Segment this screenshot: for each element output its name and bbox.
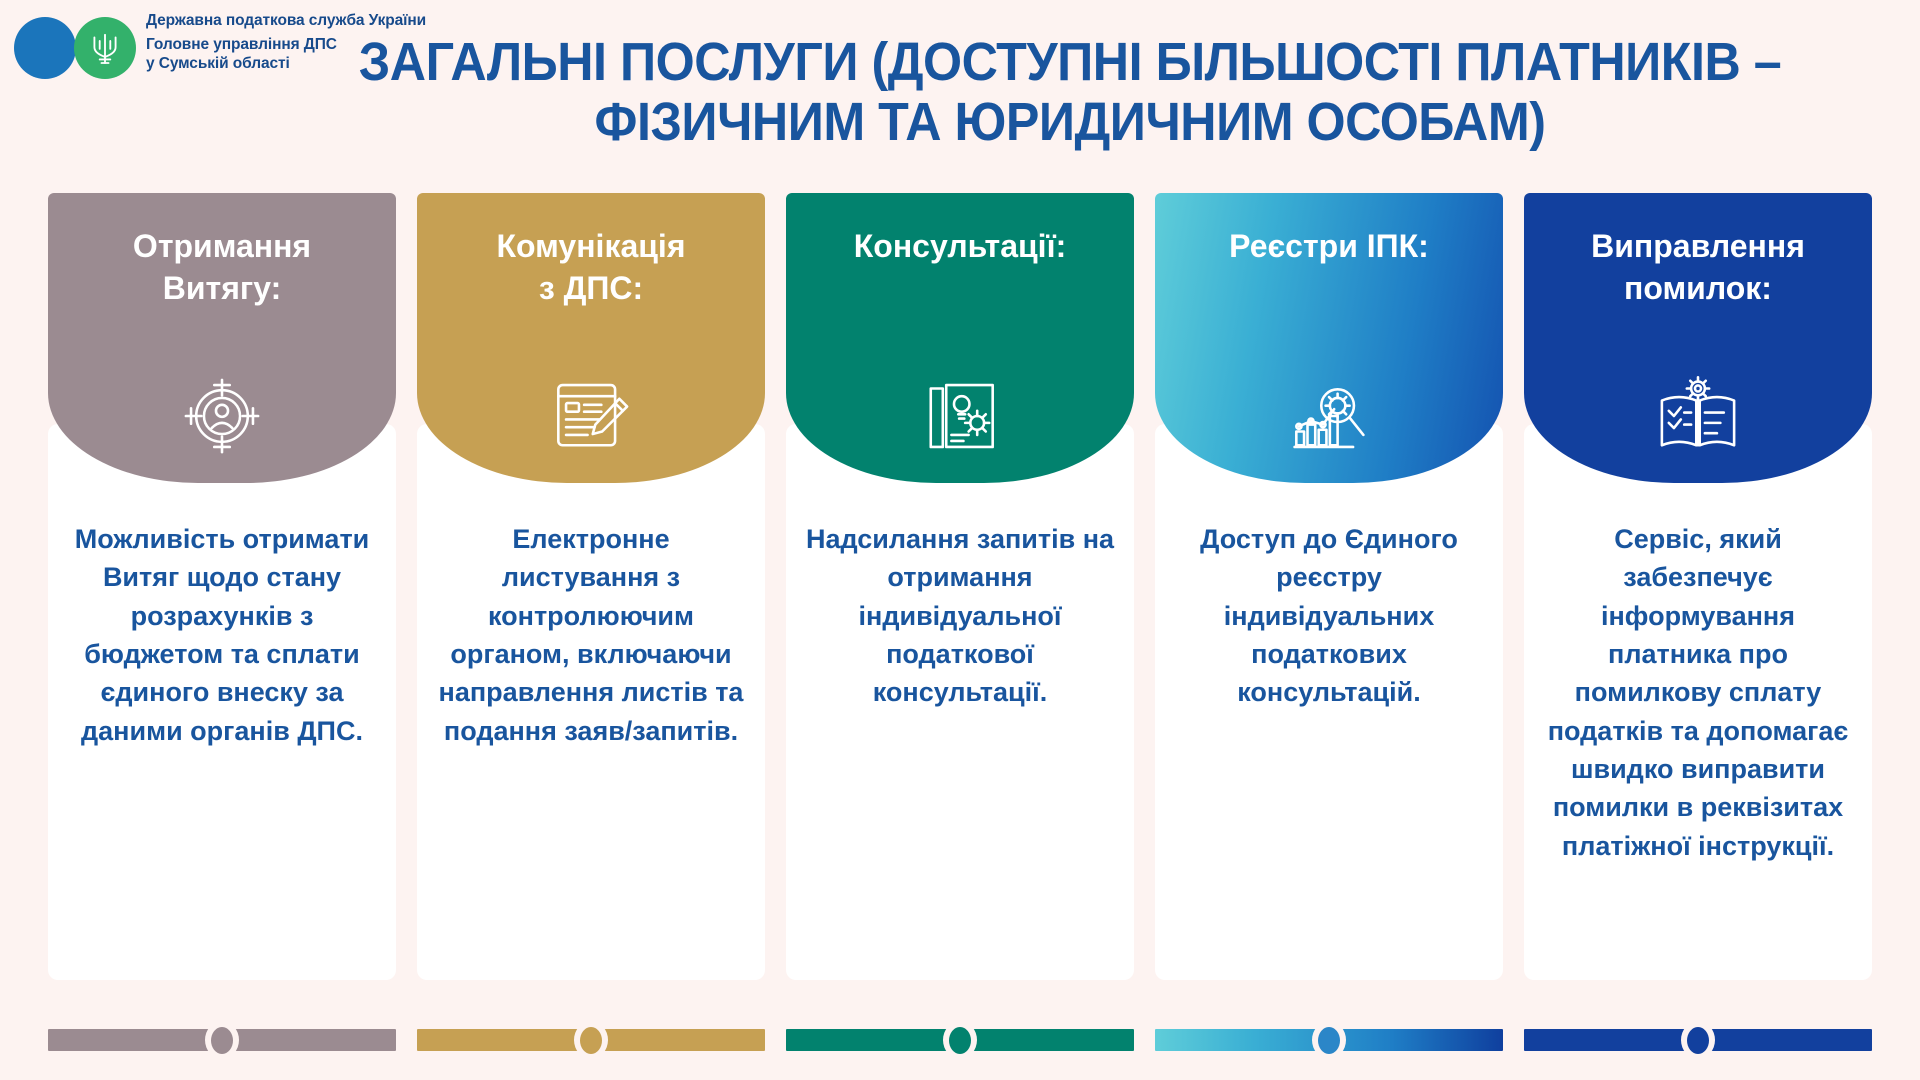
progress-bar-row	[48, 1025, 1872, 1055]
service-card-konsultatsiyi[interactable]: Надсилання запитів на отримання індивіду…	[786, 193, 1134, 1008]
progress-knob-3[interactable]	[943, 1021, 977, 1059]
logo-text-block: Державна податкова служба України Головн…	[140, 12, 426, 74]
organization-logo: Державна податкова служба України Головн…	[10, 10, 426, 76]
card-body-4: Доступ до Єдиного реєстру індивідуальних…	[1155, 424, 1503, 980]
card-body-1: Можливість отримати Витяг щодо стану роз…	[48, 424, 396, 980]
services-card-row: Можливість отримати Витяг щодо стану роз…	[48, 193, 1872, 1008]
card-title-5: Виправлення помилок:	[1577, 193, 1819, 309]
progress-knob-4[interactable]	[1312, 1021, 1346, 1059]
card-head-4: Реєстри ІПК:	[1155, 193, 1503, 483]
progress-knob-5[interactable]	[1681, 1021, 1715, 1059]
card-title-2: Комунікація з ДПС:	[483, 193, 700, 309]
card-title-4: Реєстри ІПК:	[1215, 193, 1443, 267]
card-description-4: Доступ до Єдиного реєстру індивідуальних…	[1171, 520, 1487, 712]
open-book-checklist-gear-icon	[1655, 373, 1741, 459]
card-head-2: Комунікація з ДПС:	[417, 193, 765, 483]
logo-marks	[10, 10, 140, 76]
document-pencil-icon	[548, 373, 634, 459]
org-name-line-2: Головне управління ДПС	[146, 36, 426, 55]
progress-bar-2[interactable]	[417, 1025, 765, 1055]
progress-knob-inner-5	[1687, 1027, 1709, 1054]
card-head-1: Отримання Витягу:	[48, 193, 396, 483]
card-title-3: Консультації:	[840, 193, 1080, 267]
progress-knob-inner-2	[580, 1027, 602, 1054]
card-body-3: Надсилання запитів на отримання індивіду…	[786, 424, 1134, 980]
logo-blue-circle-icon	[14, 17, 76, 79]
progress-bar-3[interactable]	[786, 1025, 1134, 1055]
card-head-3: Консультації:	[786, 193, 1134, 483]
progress-knob-1[interactable]	[205, 1021, 239, 1059]
card-description-3: Надсилання запитів на отримання індивіду…	[802, 520, 1118, 712]
progress-knob-2[interactable]	[574, 1021, 608, 1059]
page-title: ЗАГАЛЬНІ ПОСЛУГИ (ДОСТУПНІ БІЛЬШОСТІ ПЛА…	[345, 32, 1796, 153]
org-name-line-3: у Сумській області	[146, 55, 426, 74]
target-person-icon	[179, 373, 265, 459]
book-gear-bulb-icon	[917, 373, 1003, 459]
service-card-otrymannya-vytyahu[interactable]: Можливість отримати Витяг щодо стану роз…	[48, 193, 396, 1008]
progress-knob-inner-4	[1318, 1027, 1340, 1054]
progress-knob-inner-1	[211, 1027, 233, 1054]
card-body-5: Сервіс, який забезпечує інформування пла…	[1524, 424, 1872, 980]
progress-bar-1[interactable]	[48, 1025, 396, 1055]
card-title-1: Отримання Витягу:	[119, 193, 325, 309]
trident-icon	[90, 29, 120, 67]
service-card-komunikatsiya-z-dps[interactable]: Електронне листування з контролюючим орг…	[417, 193, 765, 1008]
chart-magnifier-gear-icon	[1286, 373, 1372, 459]
service-card-reiestry-ipk[interactable]: Доступ до Єдиного реєстру індивідуальних…	[1155, 193, 1503, 1008]
org-name-line-1: Державна податкова служба України	[146, 12, 426, 31]
card-head-5: Виправлення помилок:	[1524, 193, 1872, 483]
logo-green-circle-icon	[74, 17, 136, 79]
progress-bar-5[interactable]	[1524, 1025, 1872, 1055]
service-card-vypravlennya-pomylok[interactable]: Сервіс, який забезпечує інформування пла…	[1524, 193, 1872, 1008]
card-description-5: Сервіс, який забезпечує інформування пла…	[1540, 520, 1856, 865]
progress-bar-4[interactable]	[1155, 1025, 1503, 1055]
card-description-1: Можливість отримати Витяг щодо стану роз…	[64, 520, 380, 750]
card-body-2: Електронне листування з контролюючим орг…	[417, 424, 765, 980]
progress-knob-inner-3	[949, 1027, 971, 1054]
card-description-2: Електронне листування з контролюючим орг…	[433, 520, 749, 750]
